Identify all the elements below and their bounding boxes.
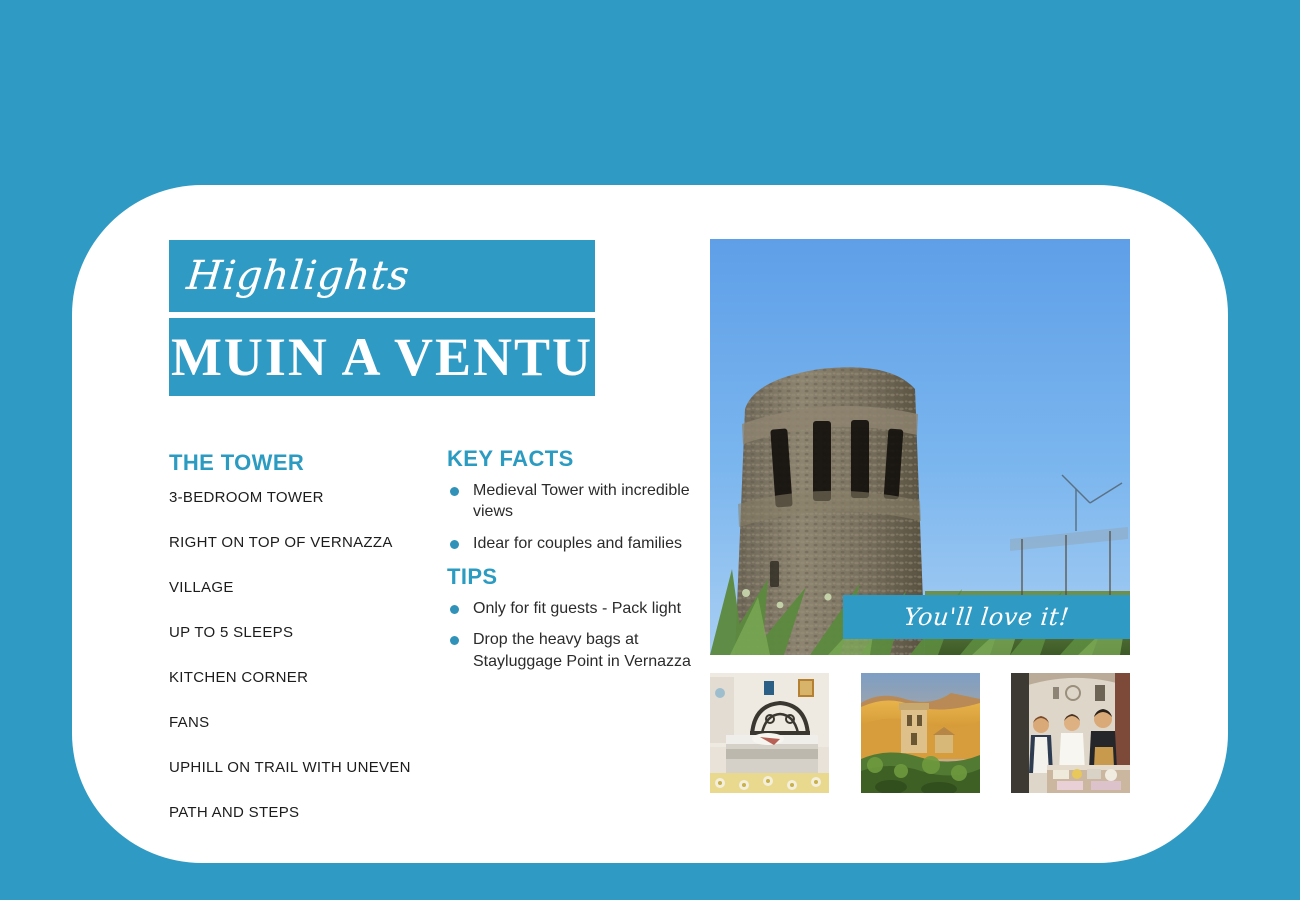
list-item: Medieval Tower with incredible views [447,480,697,523]
list-item: VILLAGE [169,579,439,597]
tips-list: Only for fit guests - Pack light Drop th… [447,598,697,672]
key-facts-column: KEY FACTS Medieval Tower with incredible… [447,447,697,682]
key-facts-heading: KEY FACTS [447,447,697,471]
tower-column: THE TOWER 3-BEDROOM TOWER RIGHT ON TOP O… [169,451,439,849]
bullet-dot-icon [450,540,459,549]
hero-banner: You'll love it! [843,595,1130,639]
list-item-label: Idear for couples and families [473,535,682,552]
bullet-dot-icon [450,636,459,645]
list-item: UPHILL ON TRAIL WITH UNEVEN [169,759,439,777]
highlights-script-banner: Highlights [169,240,595,312]
list-item: PATH AND STEPS [169,804,439,822]
key-facts-list: Medieval Tower with incredible views Ide… [447,480,697,554]
list-item: Drop the heavy bags at Stayluggage Point… [447,629,697,672]
list-item-label: Drop the heavy bags at Stayluggage Point… [473,631,691,669]
thumbnail-strip [710,673,1130,793]
tower-feature-list: 3-BEDROOM TOWER RIGHT ON TOP OF VERNAZZA… [169,489,439,822]
list-item: Only for fit guests - Pack light [447,598,697,619]
page-title: MUIN A VENTU [171,330,593,384]
list-item: Idear for couples and families [447,533,697,554]
tips-heading: TIPS [447,565,697,589]
highlights-script-label: Highlights [185,256,412,296]
list-item: FANS [169,714,439,732]
thumbnail-bedroom[interactable] [710,673,829,793]
thumbnail-hosts-kitchen[interactable] [1011,673,1130,793]
highlights-card: Highlights MUIN A VENTU THE TOWER 3-BEDR… [72,185,1228,863]
list-item-label: Medieval Tower with incredible views [473,482,690,520]
list-item: KITCHEN CORNER [169,669,439,687]
list-item-label: Only for fit guests - Pack light [473,600,681,617]
bullet-dot-icon [450,605,459,614]
list-item: 3-BEDROOM TOWER [169,489,439,507]
hero-image: You'll love it! [710,239,1130,655]
hero-image-graphic [710,239,1130,655]
property-title-banner: MUIN A VENTU [169,318,595,396]
header-block: Highlights MUIN A VENTU [169,240,595,396]
bullet-dot-icon [450,487,459,496]
tower-landscape-graphic [861,673,980,793]
hero-banner-label: You'll love it! [903,605,1071,629]
hosts-kitchen-graphic [1011,673,1130,793]
tower-heading: THE TOWER [169,451,439,475]
list-item: UP TO 5 SLEEPS [169,624,439,642]
thumbnail-tower-landscape[interactable] [861,673,980,793]
list-item: RIGHT ON TOP OF VERNAZZA [169,534,439,552]
bedroom-photo-graphic [710,673,829,793]
